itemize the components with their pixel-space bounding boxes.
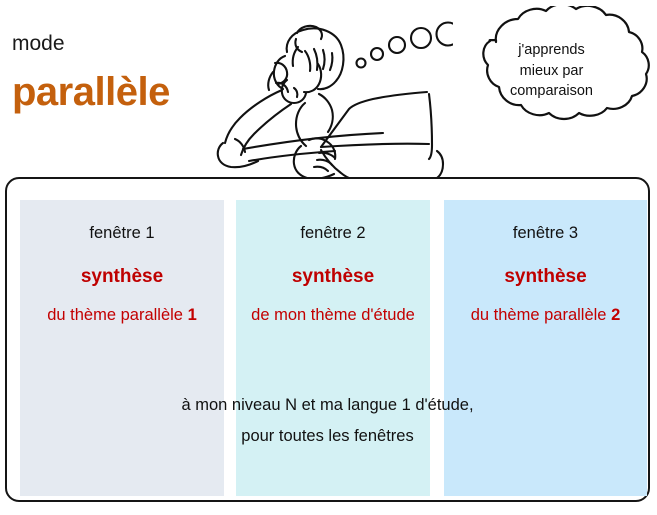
thought-bubble-line-2: mieux par xyxy=(520,61,584,82)
window-3-synthese: synthèse xyxy=(444,267,647,286)
mode-label: mode xyxy=(12,33,65,54)
diagram-canvas: mode parallèle xyxy=(0,0,657,515)
window-column-1[interactable]: fenêtre 1 synthèse du thème parallèle 1 xyxy=(20,200,224,496)
window-2-synthese: synthèse xyxy=(236,267,430,286)
window-1-title: fenêtre 1 xyxy=(20,225,224,242)
window-1-desc-line-2: 1 xyxy=(188,306,197,324)
thought-bubble: j'apprends mieux par comparaison xyxy=(449,6,654,134)
thought-bubble-text: j'apprends mieux par comparaison xyxy=(449,6,654,134)
window-2-title: fenêtre 2 xyxy=(236,225,430,242)
thought-bubble-line-3: comparaison xyxy=(510,81,593,102)
window-3-title: fenêtre 3 xyxy=(444,225,647,242)
window-1-description: du thème parallèle 1 xyxy=(20,305,224,327)
window-2-desc-line-2: d'étude xyxy=(361,306,415,324)
window-3-desc-line-1: du thème parallèle xyxy=(471,306,607,324)
window-3-description: du thème parallèle 2 xyxy=(444,305,647,327)
window-3-desc-line-2: 2 xyxy=(611,306,620,324)
illustration-linework xyxy=(213,6,453,178)
window-column-2[interactable]: fenêtre 2 synthèse de mon thème d'étude xyxy=(236,200,430,496)
person-thinking-at-laptop-illustration xyxy=(213,6,453,178)
mode-name: parallèle xyxy=(12,72,170,112)
window-2-description: de mon thème d'étude xyxy=(236,305,430,327)
window-1-synthese: synthèse xyxy=(20,267,224,286)
window-1-desc-line-1: du thème parallèle xyxy=(47,306,183,324)
window-column-3[interactable]: fenêtre 3 synthèse du thème parallèle 2 xyxy=(444,200,647,496)
thought-bubble-line-1: j'apprends xyxy=(518,40,584,61)
windows-panel: fenêtre 1 synthèse du thème parallèle 1 … xyxy=(5,177,650,502)
window-2-desc-line-1: de mon thème xyxy=(251,306,356,324)
